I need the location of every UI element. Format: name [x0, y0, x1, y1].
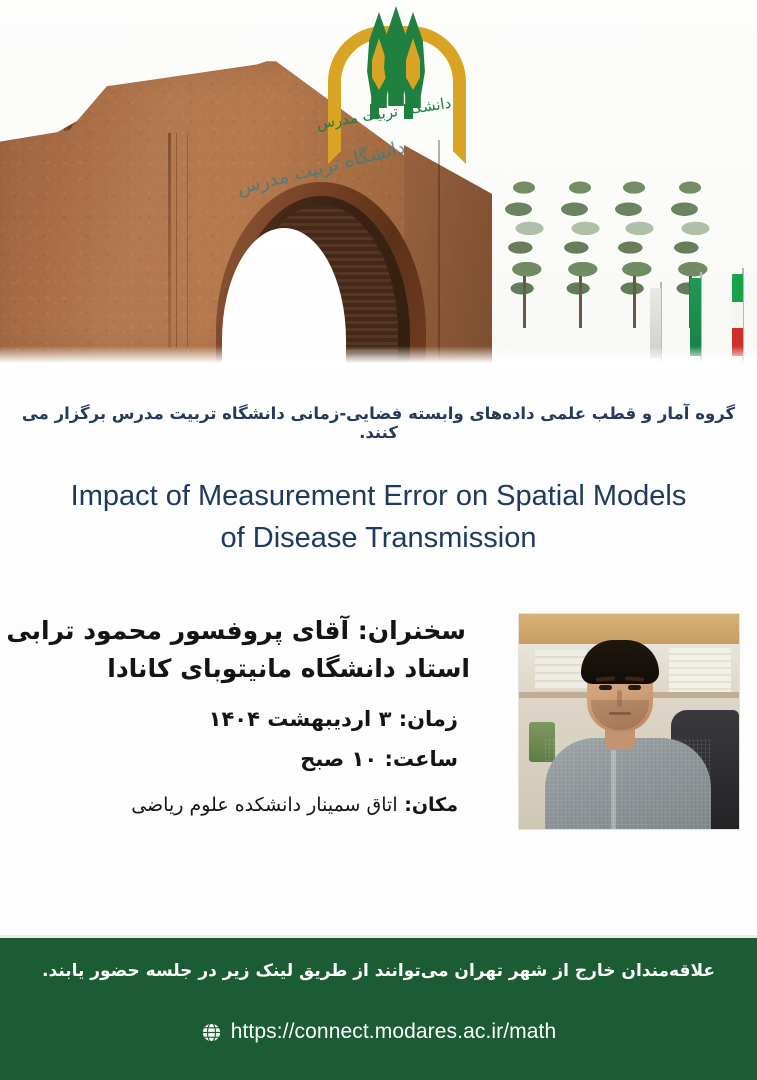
portrait-bg-papers-left [535, 650, 587, 690]
university-logo: دانشگاه تربیت مدرس [310, 8, 460, 156]
green-flag [690, 278, 701, 356]
portrait-bg-papers-right [669, 648, 731, 692]
iran-flag [732, 274, 743, 356]
footer-top-divider [0, 935, 757, 938]
speaker-shirt [545, 738, 711, 829]
speaker-portrait [518, 613, 740, 830]
footer-banner: علاقه‌مندان خارج از شهر تهران می‌توانند … [0, 935, 757, 1080]
date-line: زمان: ۳ اردیبهشت ۱۴۰۴ [18, 700, 518, 740]
photo-bottom-fade [0, 346, 757, 368]
logo-tulip-right [400, 12, 426, 108]
meeting-url[interactable]: https://connect.modares.ac.ir/math [231, 1020, 557, 1044]
footer-note-text: علاقه‌مندان خارج از شهر تهران می‌توانند … [0, 961, 757, 981]
facade-incision-panel [176, 133, 188, 348]
speaker-affiliation: استاد دانشگاه مانیتوبای کانادا [18, 650, 518, 688]
place-line: مکان: اتاق سمینار دانشکده علوم ریاضی [18, 786, 518, 824]
pier-seam-line [438, 140, 440, 368]
seminar-poster: دانشگاه تربیت مدرس [0, 0, 757, 1080]
globe-icon [201, 1022, 222, 1043]
time-line: ساعت: ۱۰ صبح [18, 740, 518, 780]
seminar-title-line-1: Impact of Measurement Error on Spatial M… [0, 476, 757, 518]
speaker-hair [581, 640, 659, 684]
speaker-eye-right [628, 685, 641, 690]
place-label: مکان: [404, 794, 458, 816]
speaker-line: سخنران: آقای پروفسور محمود ترابی [18, 612, 518, 650]
seminar-details: سخنران: آقای پروفسور محمود ترابی استاد د… [18, 612, 518, 824]
footer-link-row[interactable]: https://connect.modares.ac.ir/math [0, 1020, 757, 1044]
organizer-intro-text: گروه آمار و قطب علمی داده‌های وابسته فضا… [0, 404, 757, 442]
speaker-nose [617, 690, 622, 707]
shirt-placket [611, 742, 616, 829]
seminar-title: Impact of Measurement Error on Spatial M… [0, 476, 757, 560]
speaker-mouth [609, 712, 631, 715]
speaker-eye-left [599, 685, 612, 690]
seminar-title-line-2: of Disease Transmission [0, 518, 757, 560]
place-value: اتاق سمینار دانشکده علوم ریاضی [131, 794, 397, 816]
facade-incision-line [168, 133, 171, 348]
